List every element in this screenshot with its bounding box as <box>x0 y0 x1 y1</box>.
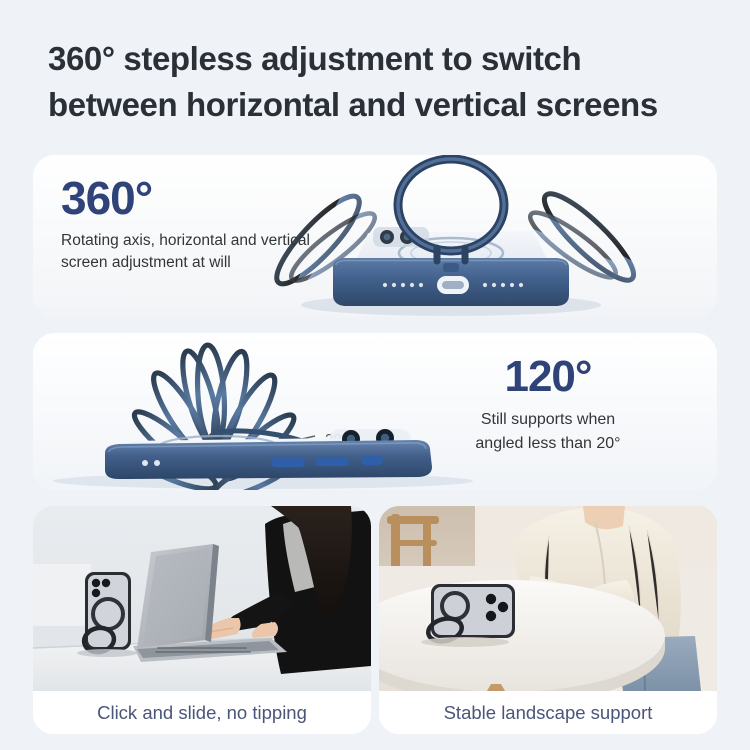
photo-round-table-scene <box>379 506 717 691</box>
page-title-line-1: 360° stepless adjustment to switch <box>48 36 708 82</box>
card-360-desc-line-1: Rotating axis, horizontal and vertical <box>61 230 391 252</box>
card-120-description: Still supports when angled less than 20° <box>403 408 693 456</box>
card-360-desc-line-2: screen adjustment at will <box>61 252 391 274</box>
page-title: 360° stepless adjustment to switch betwe… <box>48 36 708 127</box>
card-360-description: Rotating axis, horizontal and vertical s… <box>61 230 391 275</box>
photo-left-caption: Click and slide, no tipping <box>33 691 371 734</box>
page-title-line-2: between horizontal and vertical screens <box>48 82 708 128</box>
card-360-text: 360° Rotating axis, horizontal and verti… <box>61 175 391 275</box>
photo-right-caption: Stable landscape support <box>379 691 717 734</box>
photo-laptop-desk-scene <box>33 506 371 691</box>
card-120-text: 120° Still supports when angled less tha… <box>403 355 693 456</box>
photo-card-click-and-slide: Click and slide, no tipping <box>33 506 371 734</box>
photo-card-stable-landscape: Stable landscape support <box>379 506 717 734</box>
feature-card-120: 20° 120° <box>33 333 717 490</box>
card-120-desc-line-2: angled less than 20° <box>403 432 693 456</box>
card-360-headline: 360° <box>61 175 391 221</box>
card-120-headline: 120° <box>403 355 693 399</box>
feature-card-360: 360° Rotating axis, horizontal and verti… <box>33 155 717 317</box>
card-120-desc-line-1: Still supports when <box>403 408 693 432</box>
